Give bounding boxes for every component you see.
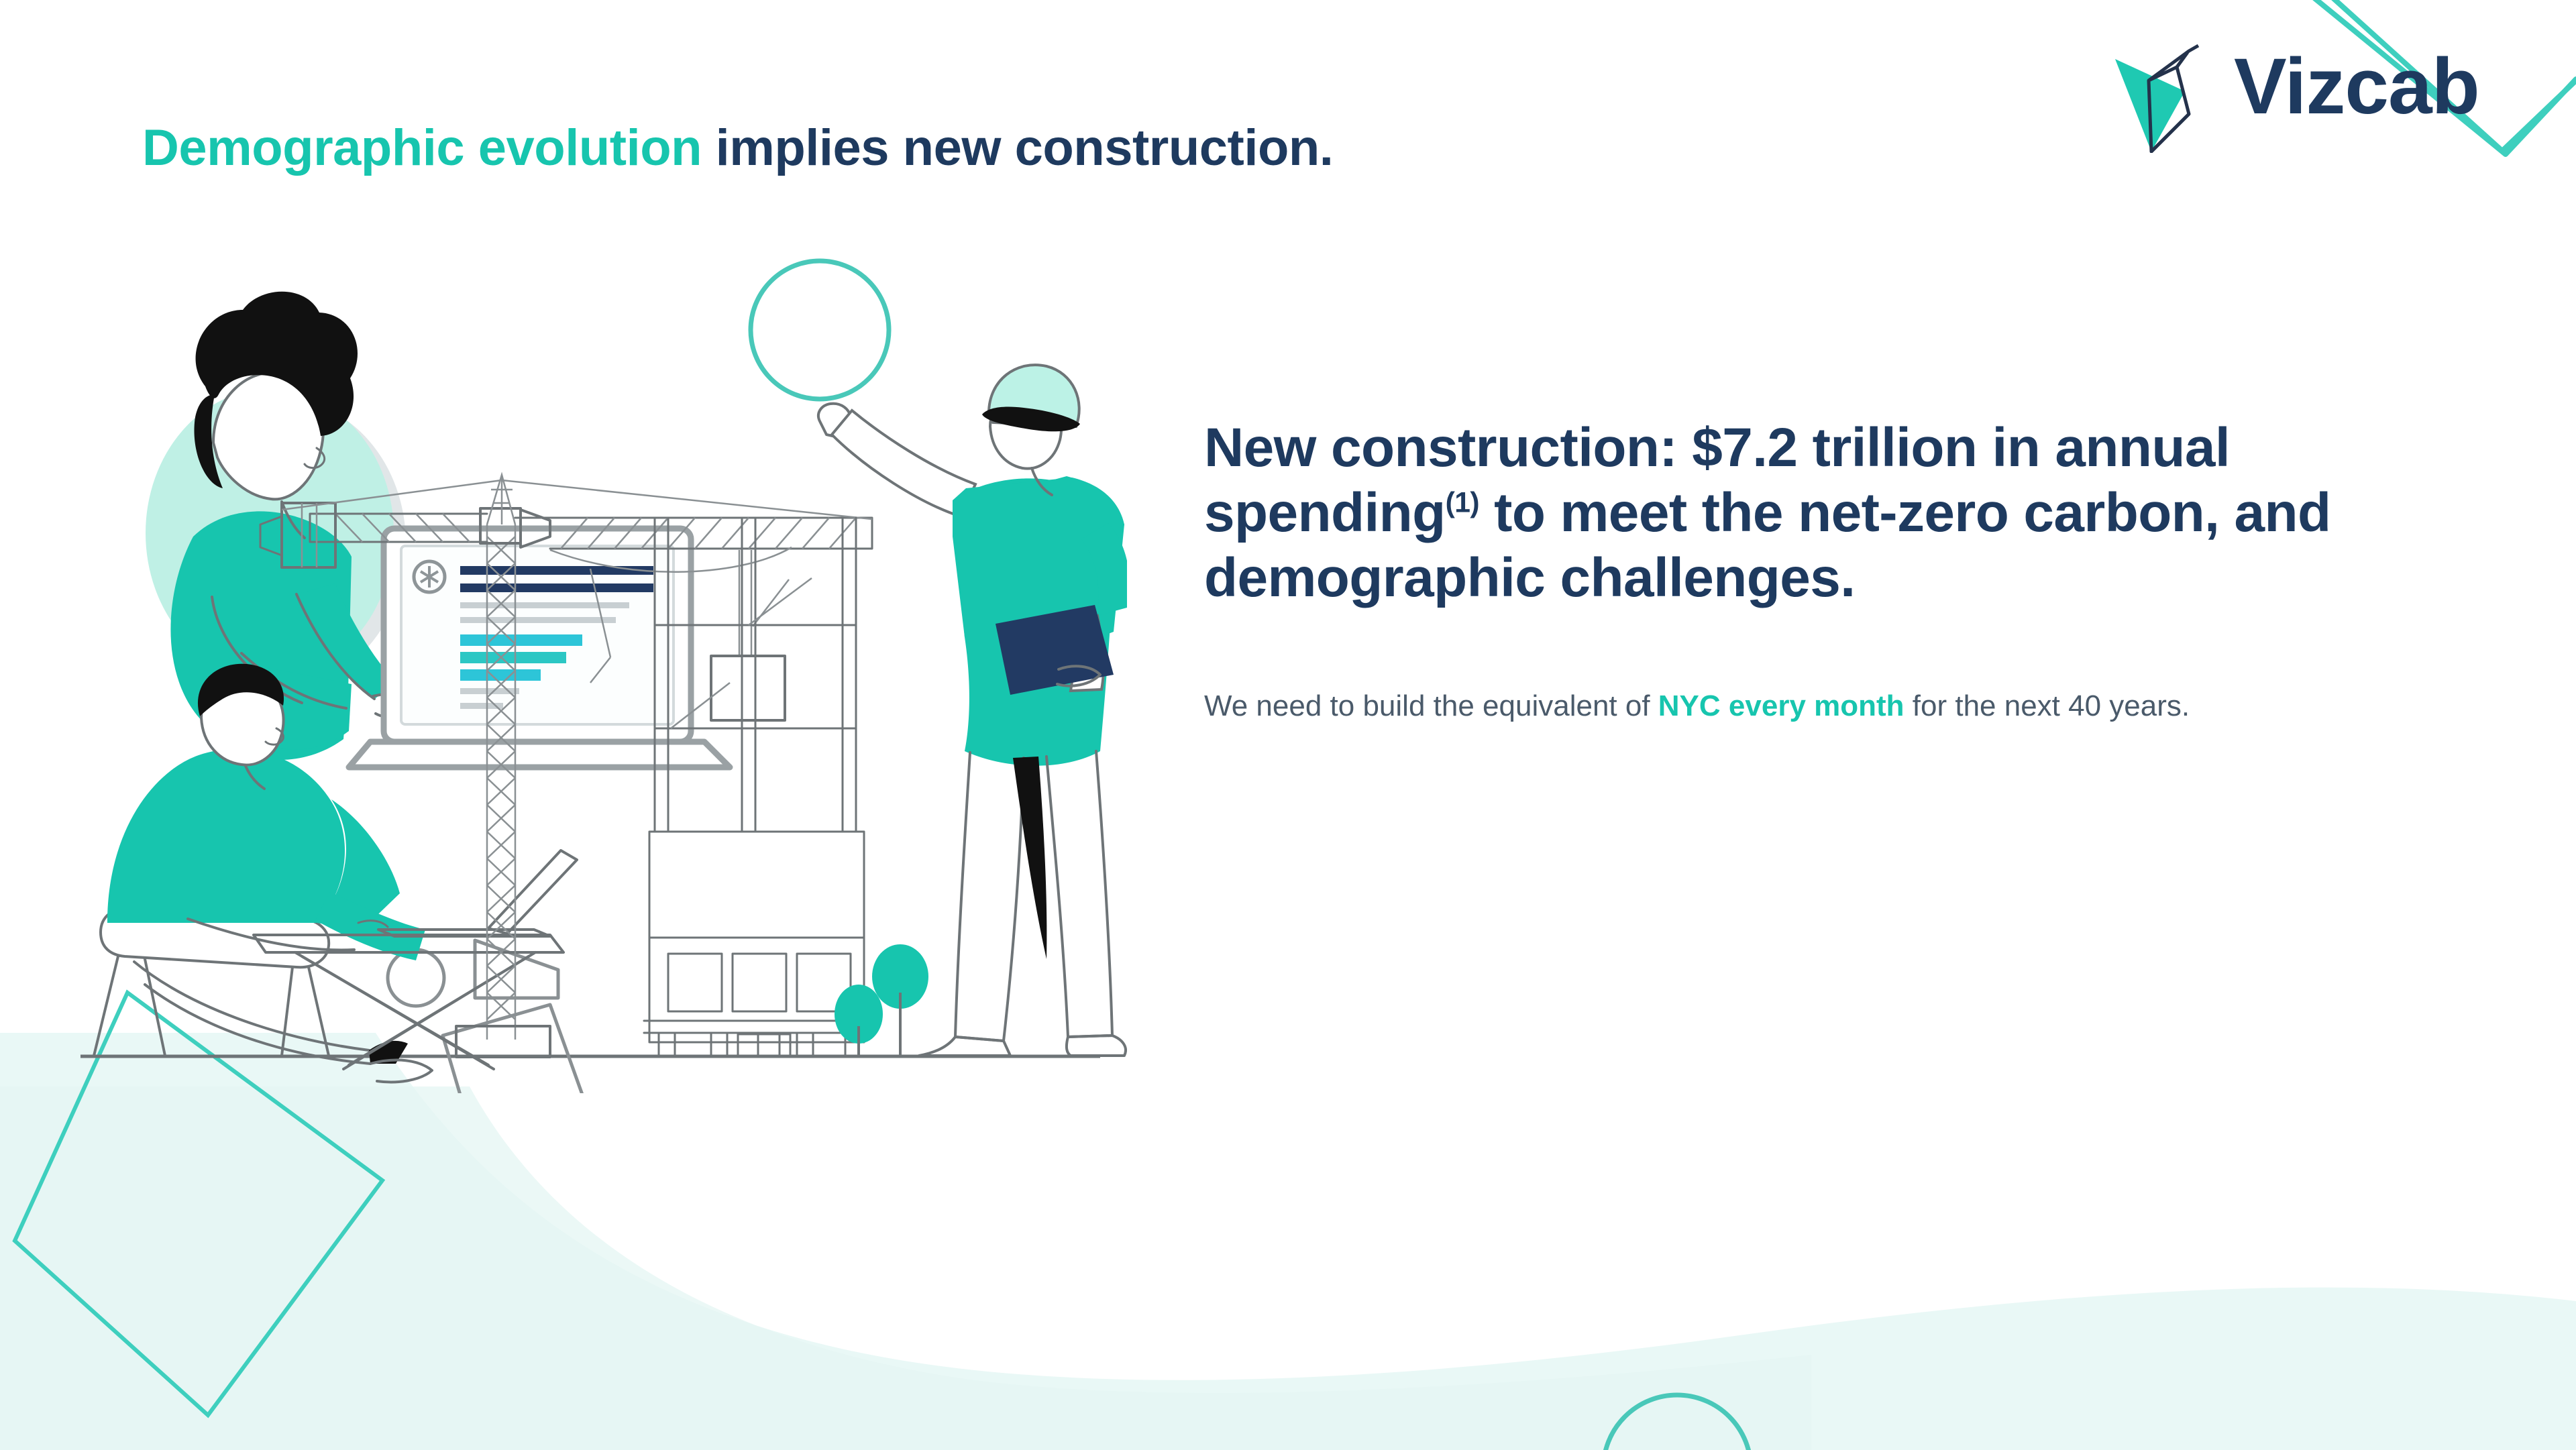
mint-wave-background <box>0 1033 2576 1450</box>
page-title-accent: Demographic evolution <box>142 119 702 176</box>
teal-circle-outline-bottom <box>1603 1395 1751 1450</box>
laptop-screen <box>349 528 730 767</box>
headline-footnote-marker: (1) <box>1446 486 1479 518</box>
body-part1: We need to build the equivalent of <box>1204 689 1658 722</box>
geometric-props <box>388 940 582 1093</box>
body-part2: for the next 40 years. <box>1904 689 2190 722</box>
brand-logo: Vizcab <box>2110 32 2539 153</box>
main-headline: New construction: $7.2 trillion in annua… <box>1204 416 2405 610</box>
page-title-rest: implies new construction. <box>702 119 1333 176</box>
body-highlight: NYC every month <box>1658 689 1904 722</box>
vizcab-origami-icon <box>2110 39 2231 153</box>
construction-illustration: .ln{fill:none;stroke:#6E7477;stroke-widt… <box>80 221 1127 1093</box>
body-paragraph: We need to build the equivalent of NYC e… <box>1204 685 2358 727</box>
page-title: Demographic evolution implies new constr… <box>142 119 1333 177</box>
trees <box>835 944 928 1056</box>
slide-header: Demographic evolution implies new constr… <box>0 0 2576 174</box>
content-column: New construction: $7.2 trillion in annua… <box>1204 416 2432 757</box>
slide: Demographic evolution implies new constr… <box>0 0 2576 1450</box>
mint-wave-secondary <box>0 1086 1811 1450</box>
illustration-svg: .ln{fill:none;stroke:#6E7477;stroke-widt… <box>80 221 1127 1093</box>
seated-laptop <box>378 850 577 936</box>
brand-wordmark: Vizcab <box>2234 47 2479 126</box>
